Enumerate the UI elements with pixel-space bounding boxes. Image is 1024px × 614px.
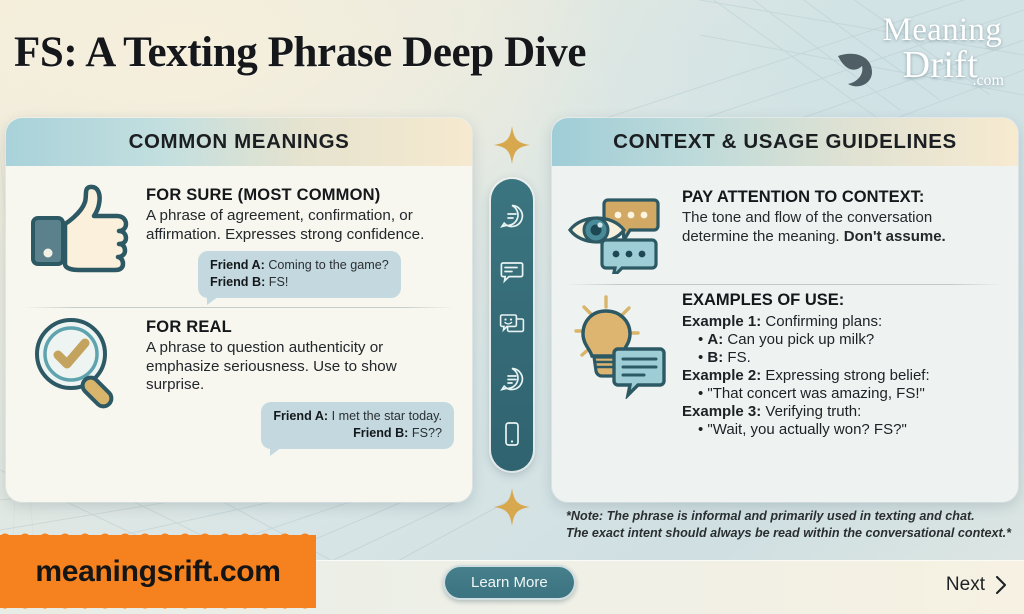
- thumbs-up-icon: [24, 180, 134, 276]
- chevron-right-icon: [994, 575, 1008, 595]
- footnote-line-1: *Note: The phrase is informal and primar…: [566, 508, 1016, 525]
- stacked-chat-smiley-icon[interactable]: [499, 312, 525, 338]
- round-chat-bubble-icon[interactable]: [499, 366, 525, 392]
- chat-speaker-b: Friend B:: [210, 275, 265, 289]
- next-button[interactable]: Next: [946, 574, 1008, 596]
- chat-line-a: I met the star today.: [332, 409, 442, 423]
- watermark-text: meaningsrift.com: [35, 555, 280, 589]
- chat-speaker-a: Friend A:: [210, 258, 265, 272]
- square-chat-bubble-icon[interactable]: [499, 258, 525, 284]
- leaf-swoosh-icon: [832, 46, 878, 92]
- chat-line-a: Coming to the game?: [268, 258, 388, 272]
- learn-more-button[interactable]: Learn More: [443, 565, 576, 600]
- common-meanings-panel: COMMON MEANINGS FOR SURE (MOST COMMON) A…: [6, 118, 472, 502]
- example-bullet: • "That concert was amazing, FS!": [682, 385, 1002, 403]
- examples-title: EXAMPLES OF USE:: [682, 291, 1002, 310]
- example-text: Confirming plans:: [765, 313, 882, 330]
- context-title: PAY ATTENTION TO CONTEXT:: [682, 188, 1002, 207]
- example-entry: Example 3: Verifying truth:: [682, 403, 1002, 421]
- eye-with-chat-bubbles-icon: [566, 178, 670, 274]
- context-description-bold: Don't assume.: [844, 228, 946, 245]
- meaning-item-for-real: FOR REAL A phrase to question authentici…: [24, 312, 454, 449]
- context-usage-panel: CONTEXT & USAGE GUIDELINES PAY ATTENTION…: [552, 118, 1018, 502]
- chat-icon-rail: [491, 179, 533, 471]
- footnote: *Note: The phrase is informal and primar…: [566, 508, 1016, 541]
- example-label: Example 2:: [682, 367, 761, 384]
- item-description: A phrase of agreement, confirmation, or …: [146, 207, 454, 244]
- chat-bubble: Friend A: Coming to the game? Friend B: …: [198, 251, 401, 298]
- example-bullet-bold: A:: [707, 331, 723, 348]
- example-text: Verifying truth:: [765, 403, 861, 420]
- meaning-item-for-sure: FOR SURE (MOST COMMON) A phrase of agree…: [24, 180, 454, 298]
- logo-line-1: Meaning: [883, 14, 1002, 47]
- item-title: FOR SURE (MOST COMMON): [146, 186, 454, 205]
- site-watermark: meaningsrift.com: [0, 535, 316, 608]
- page-title: FS: A Texting Phrase Deep Dive: [14, 28, 586, 77]
- example-bullet-text: "Wait, you actually won? FS?": [707, 421, 906, 438]
- chat-bubble: Friend A: I met the star today. Friend B…: [261, 402, 454, 449]
- brand-logo: Meaning Drift .com: [814, 8, 1004, 100]
- example-bullet-bold: B:: [707, 349, 723, 366]
- context-description: The tone and flow of the conversation de…: [682, 209, 1002, 246]
- context-item: PAY ATTENTION TO CONTEXT: The tone and f…: [566, 178, 1002, 274]
- panel-divider: [566, 284, 1002, 285]
- item-title: FOR REAL: [146, 318, 454, 337]
- example-entry: Example 2: Expressing strong belief:: [682, 367, 1002, 385]
- round-chat-bubble-icon[interactable]: [499, 203, 525, 229]
- chat-speaker-a: Friend A:: [273, 409, 328, 423]
- chat-speaker-b: Friend B:: [353, 426, 408, 440]
- example-bullet: • A: Can you pick up milk?: [682, 331, 1002, 349]
- example-bullet: • B: FS.: [682, 349, 1002, 367]
- footnote-line-2: The exact intent should always be read w…: [566, 525, 1016, 542]
- example-label: Example 1:: [682, 313, 761, 330]
- right-panel-heading: CONTEXT & USAGE GUIDELINES: [552, 118, 1018, 166]
- example-bullet-text: FS.: [727, 349, 750, 366]
- example-entry: Example 1: Confirming plans:: [682, 313, 1002, 331]
- logo-line-2: Drift: [903, 46, 978, 84]
- left-panel-heading: COMMON MEANINGS: [6, 118, 472, 166]
- examples-item: EXAMPLES OF USE: Example 1: Confirming p…: [566, 289, 1002, 439]
- next-label: Next: [946, 574, 985, 596]
- example-label: Example 3:: [682, 403, 761, 420]
- example-text: Expressing strong belief:: [765, 367, 929, 384]
- lightbulb-chat-icon: [566, 289, 670, 399]
- example-bullet: • "Wait, you actually won? FS?": [682, 421, 1002, 439]
- sparkle-icon: [494, 488, 530, 526]
- panel-divider: [24, 307, 454, 308]
- mobile-phone-icon[interactable]: [499, 421, 525, 447]
- chat-line-b: FS!: [269, 275, 289, 289]
- example-bullet-text: Can you pick up milk?: [727, 331, 874, 348]
- watermark-bottom-edge: [0, 602, 316, 611]
- logo-tld: .com: [972, 72, 1004, 90]
- sparkle-icon: [494, 126, 530, 164]
- example-bullet-text: "That concert was amazing, FS!": [707, 385, 924, 402]
- chat-line-b: FS??: [412, 426, 442, 440]
- item-description: A phrase to question authenticity or emp…: [146, 339, 454, 395]
- magnifier-check-icon: [24, 312, 134, 416]
